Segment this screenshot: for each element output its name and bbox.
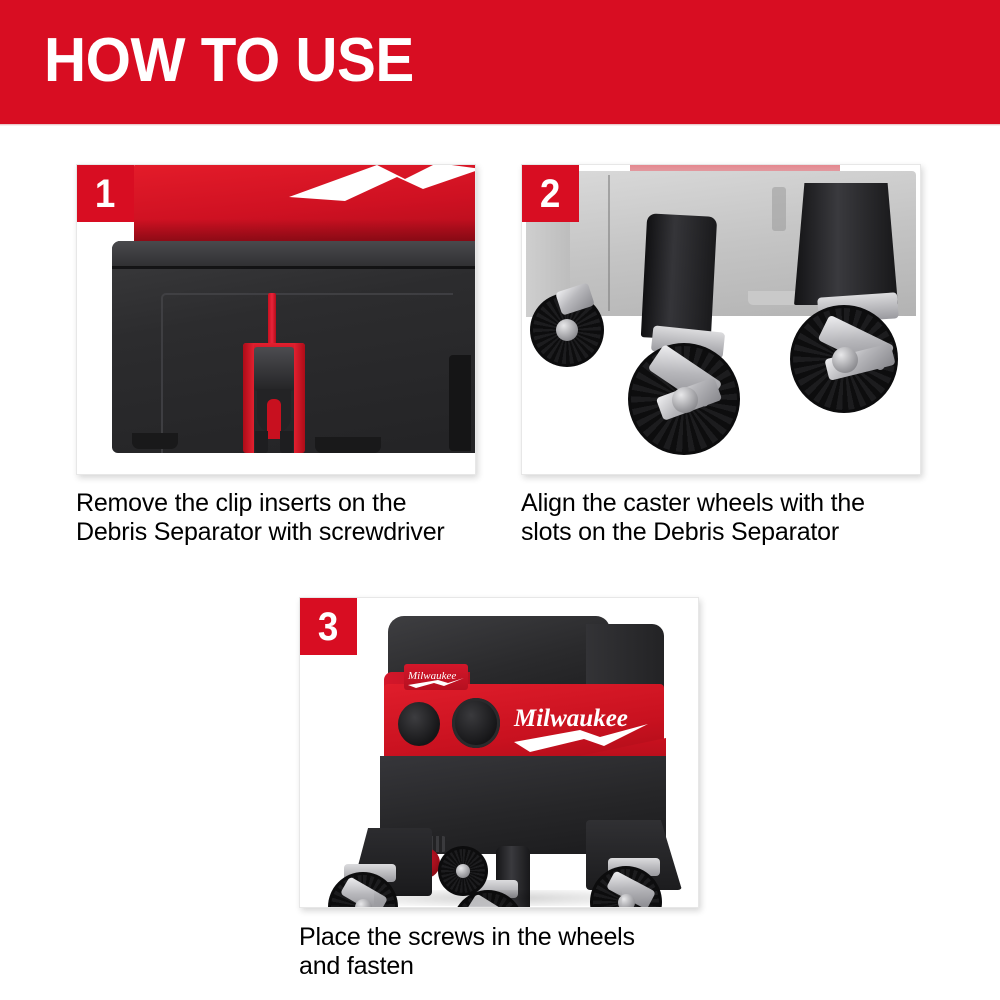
- step-badge-1: 1: [77, 165, 134, 222]
- clip-prong-right: [280, 431, 293, 453]
- step-card-3: Milwaukee Milwaukee: [299, 597, 699, 981]
- page-title: HOW TO USE: [44, 30, 414, 92]
- step-3-illustration: Milwaukee Milwaukee: [300, 598, 698, 907]
- separator-slot: [772, 187, 786, 231]
- wheel-hub: [832, 347, 858, 373]
- step-number-1: 1: [95, 174, 115, 214]
- case-lip-seam: [112, 266, 476, 269]
- case-lid-shading: [134, 219, 476, 243]
- case-foot-left: [132, 433, 178, 449]
- lightning-bolt-icon: [285, 164, 476, 203]
- wheel-hub: [672, 387, 698, 413]
- step-caption-3: Place the screws in the wheels and faste…: [299, 923, 681, 981]
- steps-container: 1 Remove the clip inserts on the Debris …: [0, 126, 1000, 1000]
- header-banner: HOW TO USE: [0, 0, 1000, 124]
- clip-prong-left: [255, 431, 268, 453]
- vac-port-right: [452, 698, 500, 748]
- step-3-photo: Milwaukee Milwaukee: [299, 597, 699, 908]
- milwaukee-logo: Milwaukee: [508, 696, 656, 758]
- step-2-photo: 2: [521, 164, 921, 475]
- separator-seam: [608, 175, 610, 311]
- case-upper-lip: [112, 241, 476, 267]
- caster-bracket-left: [641, 213, 717, 340]
- clip-red-notch: [267, 399, 281, 439]
- case-side-slot: [449, 355, 471, 451]
- clip-rail-left: [243, 343, 254, 453]
- step-number-2: 2: [540, 174, 560, 214]
- step-1-photo: 1: [76, 164, 476, 475]
- clip-rail-right: [294, 343, 305, 453]
- step-caption-2: Align the caster wheels with the slots o…: [521, 489, 903, 547]
- step-badge-3: 3: [300, 598, 357, 655]
- wheel-hub: [556, 319, 578, 341]
- vac-small-logo-plate: Milwaukee: [404, 664, 468, 690]
- case-panel-seam: [161, 293, 453, 453]
- step-card-1: 1 Remove the clip inserts on the Debris …: [76, 164, 476, 547]
- vac-port-left: [398, 702, 440, 746]
- red-clip-insert: [243, 343, 305, 453]
- clip-inner-block: [254, 347, 294, 391]
- step-2-illustration: [522, 165, 920, 474]
- case-foot-right: [315, 437, 381, 453]
- caster-bracket-right: [794, 183, 898, 305]
- ground-shadow: [374, 890, 622, 906]
- step-number-3: 3: [318, 607, 338, 647]
- step-card-2: 2 Align the caster wheels with the slots…: [521, 164, 921, 547]
- wheel-hub: [456, 864, 470, 878]
- step-badge-2: 2: [522, 165, 579, 222]
- svg-text:Milwaukee: Milwaukee: [407, 670, 456, 682]
- step-caption-1: Remove the clip inserts on the Debris Se…: [76, 489, 458, 547]
- step-1-illustration: [77, 165, 475, 474]
- svg-text:Milwaukee: Milwaukee: [513, 705, 628, 732]
